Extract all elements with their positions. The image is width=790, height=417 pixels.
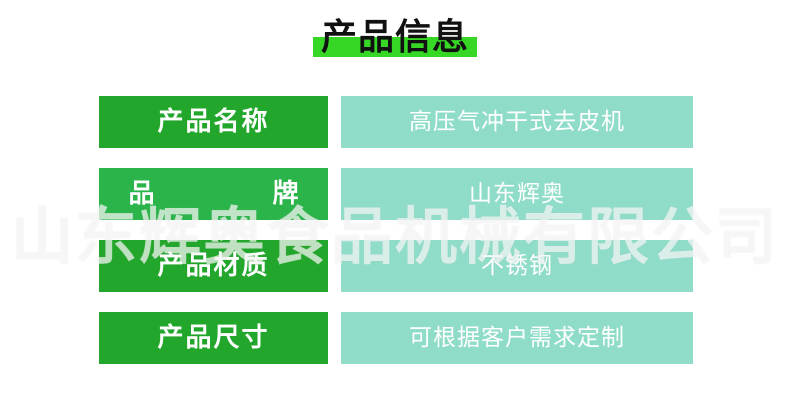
spec-label-product-name: 产品名称 [99,96,328,148]
table-row: 产品名称 高压气冲干式去皮机 [0,96,790,148]
table-row: 产品材质 不锈钢 [0,240,790,292]
spec-value-size: 可根据客户需求定制 [341,312,693,364]
page-title: 产品信息 [0,16,790,60]
product-info-card: 产品信息 产品名称 高压气冲干式去皮机 品 牌 山东辉奥 产品材质 不锈钢 产品… [0,0,790,417]
spec-label-size: 产品尺寸 [99,312,328,364]
spec-value-brand: 山东辉奥 [341,168,693,220]
spec-table: 产品名称 高压气冲干式去皮机 品 牌 山东辉奥 产品材质 不锈钢 产品尺寸 可根… [0,96,790,364]
table-row: 品 牌 山东辉奥 [0,168,790,220]
spec-value-product-name: 高压气冲干式去皮机 [341,96,693,148]
spec-label-brand: 品 牌 [99,168,328,220]
spec-label-material: 产品材质 [99,240,328,292]
page-title-inner: 产品信息 [313,16,477,60]
spec-value-material: 不锈钢 [341,240,693,292]
page-title-text: 产品信息 [321,16,469,60]
table-row: 产品尺寸 可根据客户需求定制 [0,312,790,364]
